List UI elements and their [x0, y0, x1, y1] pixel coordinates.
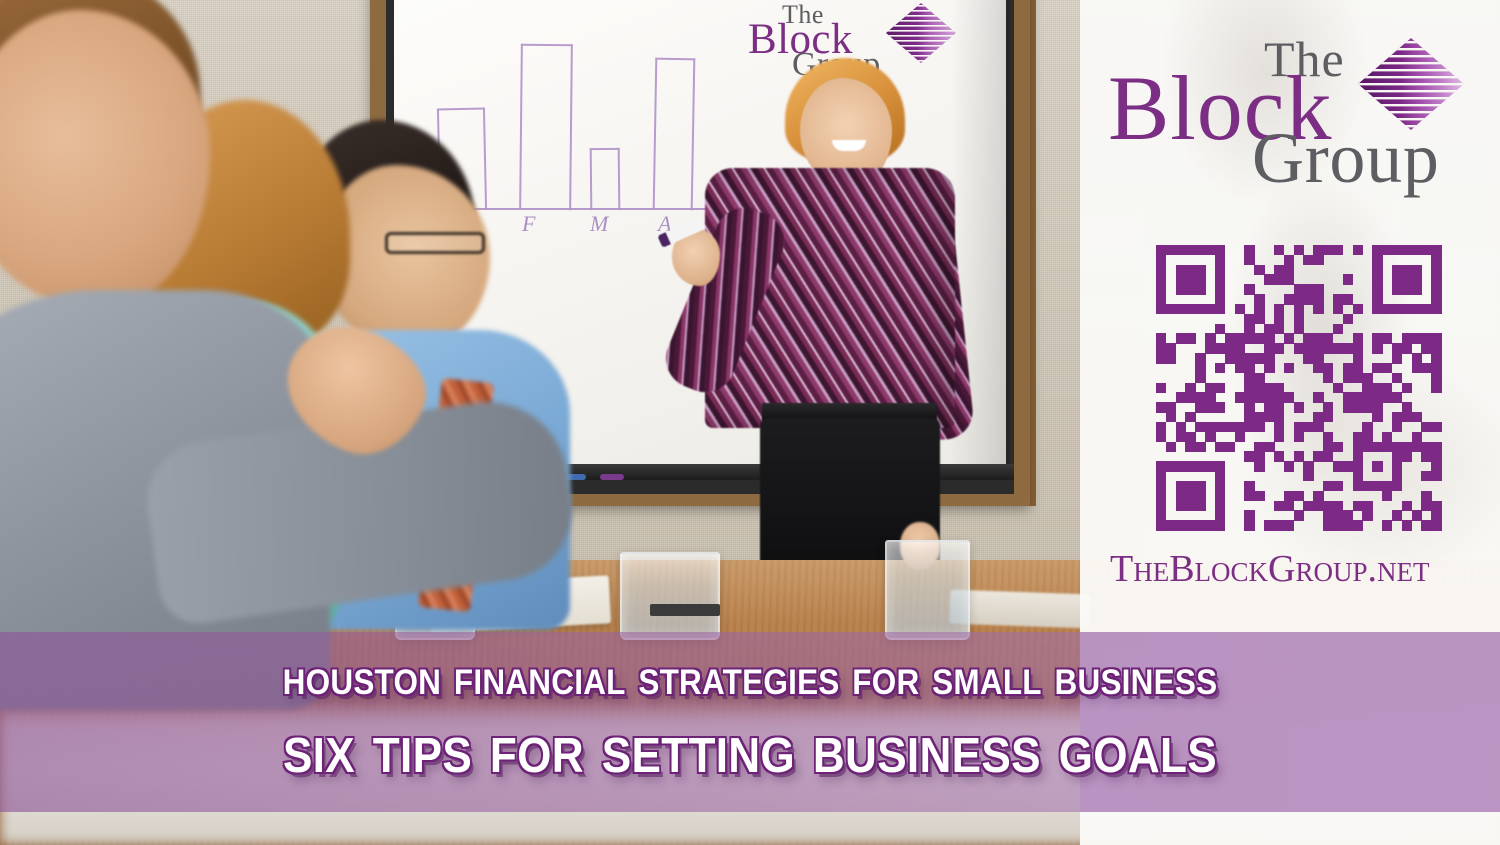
qr-module — [1254, 422, 1264, 432]
attendee3-glasses — [385, 232, 485, 254]
qr-module — [1166, 353, 1176, 363]
qr-module — [1294, 432, 1304, 442]
chart-tick-label: M — [590, 211, 608, 237]
qr-module — [1294, 510, 1304, 520]
qr-module — [1333, 481, 1343, 491]
headline-title: Six Tips for Setting Business Goals — [75, 708, 1425, 788]
chart-bar — [653, 58, 696, 211]
qr-module — [1353, 520, 1363, 530]
qr-module — [1431, 422, 1441, 432]
qr-module — [1372, 461, 1382, 471]
qr-module — [1254, 461, 1264, 471]
qr-module — [1362, 510, 1372, 520]
website-url[interactable]: TheBlockGroup.net — [1110, 550, 1430, 588]
qr-module — [1215, 304, 1225, 314]
qr-module — [1343, 314, 1353, 324]
qr-module — [1372, 412, 1382, 422]
qr-module — [1215, 402, 1225, 412]
water-glass — [620, 552, 720, 640]
qr-module — [1284, 363, 1294, 373]
qr-module — [1353, 304, 1363, 314]
qr-module — [1215, 363, 1225, 373]
qr-module — [1333, 442, 1343, 452]
qr-module — [1333, 245, 1343, 255]
diamond-logo-icon — [885, 2, 957, 64]
qr-module — [1402, 451, 1412, 461]
qr-module — [1303, 471, 1313, 481]
qr-module — [1195, 284, 1205, 294]
qr-module — [1225, 442, 1235, 452]
qr-module — [1313, 255, 1323, 265]
qr-module — [1166, 442, 1176, 452]
brand-logo: The Block Group — [1080, 0, 1500, 200]
qr-module — [1392, 353, 1402, 363]
qr-module — [1284, 520, 1294, 530]
qr-module — [1195, 442, 1205, 452]
qr-module — [1235, 432, 1245, 442]
qr-module — [1402, 383, 1412, 393]
qr-module — [1156, 383, 1166, 393]
qr-module — [1274, 432, 1284, 442]
qr-module — [1284, 461, 1294, 471]
chart-tick-label: F — [522, 211, 535, 237]
qr-module — [1244, 520, 1254, 530]
diamond-logo-icon — [1356, 36, 1466, 132]
qr-module — [1215, 383, 1225, 393]
marker-purple — [600, 474, 624, 480]
qr-module — [1431, 383, 1441, 393]
qr-module — [1254, 491, 1264, 501]
qr-module — [1274, 343, 1284, 353]
qr-module — [1392, 481, 1402, 491]
qr-module — [1353, 245, 1363, 255]
qr-module — [1313, 304, 1323, 314]
qr-module — [1195, 501, 1205, 511]
qr-module — [1382, 491, 1392, 501]
qr-code-icon[interactable] — [1156, 245, 1441, 530]
qr-module — [1343, 274, 1353, 284]
qr-module — [1382, 520, 1392, 530]
qr-module — [1185, 333, 1195, 343]
qr-module — [1323, 412, 1333, 422]
qr-module — [1402, 520, 1412, 530]
papers-stack — [949, 590, 1090, 629]
qr-module — [1215, 520, 1225, 530]
banner-image: J F M A The Block Group — [0, 0, 1500, 845]
qr-module — [1431, 520, 1441, 530]
qr-module — [1392, 422, 1402, 432]
qr-module — [1333, 324, 1343, 334]
eraser — [650, 604, 720, 616]
qr-module — [1294, 402, 1304, 412]
qr-module — [1264, 363, 1274, 373]
headline-subtitle: Houston Financial Strategies for Small B… — [75, 648, 1425, 706]
chart-bar — [590, 148, 621, 210]
chart-bar — [519, 44, 573, 211]
qr-module — [1372, 343, 1382, 353]
qr-module — [1412, 284, 1422, 294]
logo-group-text: Group — [1252, 122, 1440, 194]
water-glass — [885, 540, 970, 640]
qr-module — [1431, 304, 1441, 314]
qr-module — [1431, 471, 1441, 481]
